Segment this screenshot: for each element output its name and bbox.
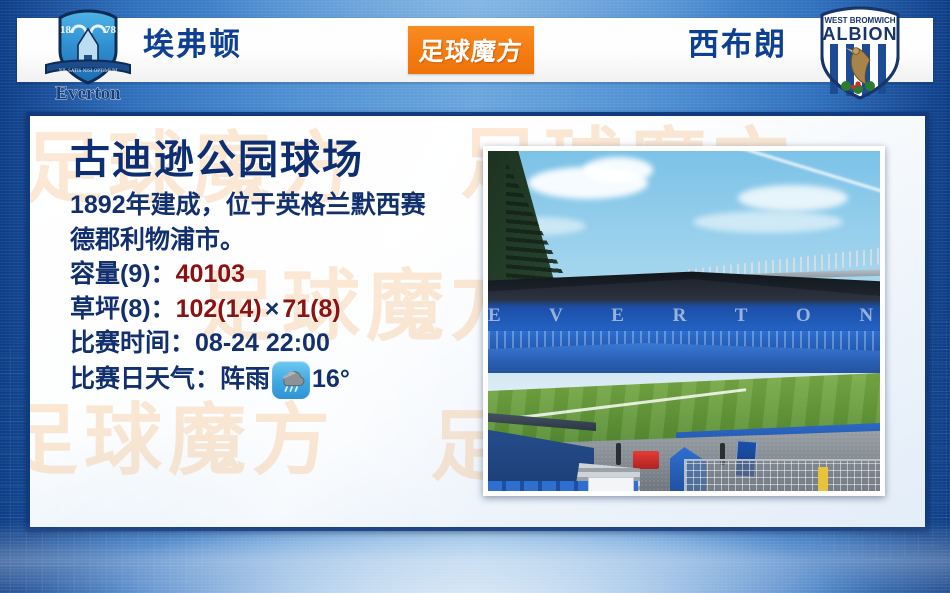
brand-logo-text: 足球魔方 — [418, 32, 525, 68]
weather-condition: 阵雨 — [220, 362, 270, 397]
stadium-description-line-2: 德郡利物浦市。 — [70, 223, 490, 258]
svg-text:ALBION: ALBION — [823, 24, 898, 44]
match-weather-row: 比赛日天气：阵雨 16° — [70, 361, 490, 399]
away-team-name: 西布朗 — [688, 19, 787, 64]
pitch-width-value: 71(8) — [282, 295, 340, 323]
home-team-name: 埃弗顿 — [143, 19, 242, 64]
brand-logo-badge[interactable]: 足球魔方 — [408, 26, 534, 74]
stadium-title: 古迪逊公园球场 — [70, 138, 490, 182]
pitch-size-row: 草坪(8)：102(14)×71(8) — [70, 292, 490, 327]
photo-post — [616, 443, 621, 465]
away-team-crest-west-bromwich-albion: WEST BROMWICH ALBION — [808, 4, 912, 102]
photo-red-equipment-box — [633, 451, 659, 469]
stadium-photo: E V E R T O N — [488, 151, 880, 491]
stadium-photo-frame: E V E R T O N — [483, 146, 885, 496]
rain-shower-icon — [272, 361, 310, 399]
match-time-row: 比赛时间：08-24 22:00 — [70, 326, 490, 361]
pitch-size-separator: × — [262, 295, 283, 323]
weather-label: 比赛日天气： — [70, 362, 220, 397]
match-time-label: 比赛时间： — [70, 329, 195, 357]
capacity-label: 容量(9)： — [70, 260, 176, 288]
svg-text:18: 18 — [60, 24, 72, 36]
match-time-value: 08-24 22:00 — [195, 329, 330, 357]
pitch-label: 草坪(8)： — [70, 295, 176, 323]
photo-cloud — [738, 185, 848, 211]
home-team-crest-everton: 18 78 NIL SATIS NISI OPTIMUM Everton — [36, 3, 140, 103]
photo-cloud — [693, 211, 843, 233]
svg-text:78: 78 — [105, 24, 117, 36]
photo-cloud — [583, 157, 653, 183]
weather-temperature: 16° — [312, 362, 350, 397]
capacity-row: 容量(9)：40103 — [70, 257, 490, 292]
svg-text:NIL SATIS NISI OPTIMUM: NIL SATIS NISI OPTIMUM — [59, 69, 118, 74]
slide-canvas: 18 78 NIL SATIS NISI OPTIMUM Everton 埃弗顿… — [0, 0, 950, 593]
stadium-info-text-block: 古迪逊公园球场 1892年建成，位于英格兰默西赛 德郡利物浦市。 容量(9)：4… — [70, 138, 490, 399]
stadium-description-line-1: 1892年建成，位于英格兰默西赛 — [70, 188, 490, 223]
capacity-value: 40103 — [176, 260, 246, 288]
photo-wall-plaque — [588, 477, 634, 491]
photo-mesh-fence — [684, 459, 880, 491]
svg-text:Everton: Everton — [55, 83, 121, 103]
photo-stand-lettering: E V E R T O N — [488, 305, 880, 331]
photo-yellow-bar — [818, 467, 828, 491]
pitch-length-value: 102(14) — [176, 295, 262, 323]
